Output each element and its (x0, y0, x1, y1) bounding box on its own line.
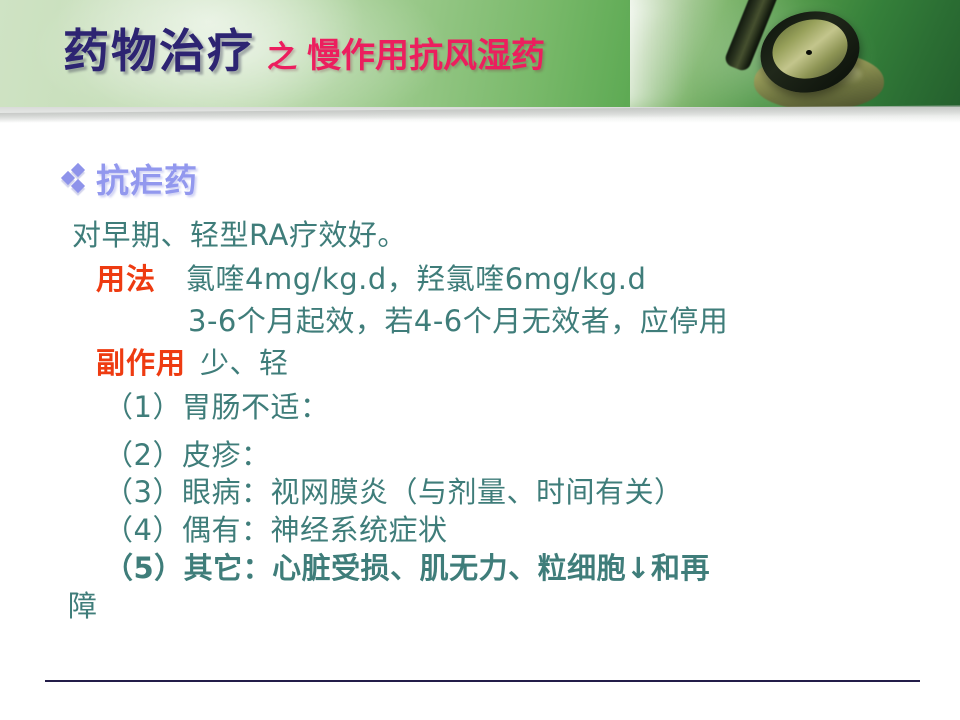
usage-duration-text: 3-6个月起效，若4-6个月无效者，应停用 (188, 304, 728, 338)
side-effect-item-4: （4）偶有：神经系统症状 (104, 507, 447, 549)
header-banner: 药物治疗之慢作用抗风湿药 (0, 0, 960, 107)
side-effects-line: 副作用少、轻 (96, 340, 289, 382)
footer-divider (45, 680, 920, 682)
slide: 药物治疗之慢作用抗风湿药 抗疟药 对早期、轻型RA疗效好。 用法氯喹4mg/kg… (0, 0, 960, 720)
usage-dosage-text: 氯喹4mg/kg.d，羟氯喹6mg/kg.d (186, 262, 646, 296)
title-connector-text: 之 (267, 40, 297, 75)
intro-line: 对早期、轻型RA疗效好。 (72, 212, 407, 254)
side-effect-item-5: （5）其它：心脏受损、肌无力、粒细胞↓和再 (104, 545, 710, 587)
section-heading: 抗疟药 (62, 154, 198, 202)
side-effects-summary: 少、轻 (200, 346, 289, 380)
title-subtitle-text: 慢作用抗风湿药 (307, 36, 545, 76)
intro-text: 对早期、轻型RA疗效好。 (72, 218, 407, 252)
side-effect-item-3: （3）眼病：视网膜炎（与剂量、时间有关） (104, 469, 683, 511)
title-main-text: 药物治疗 (63, 24, 255, 78)
stethoscope-center-dot (806, 50, 812, 55)
side-effect-item-2: （2）皮疹： (104, 432, 270, 474)
usage-label: 用法 (96, 262, 156, 296)
banner-shadow-band (0, 107, 960, 123)
slide-title: 药物治疗之慢作用抗风湿药 (63, 28, 545, 74)
usage-line-2: 3-6个月起效，若4-6个月无效者，应停用 (188, 298, 728, 340)
side-effect-item-1: （1）胃肠不适： (104, 384, 329, 426)
side-effect-item-5-wrap: 障 (68, 583, 98, 625)
diamond-bullet-icon (62, 163, 92, 193)
side-effects-label: 副作用 (96, 346, 186, 380)
stethoscope-image (630, 0, 960, 107)
section-heading-label: 抗疟药 (96, 154, 198, 202)
usage-line-1: 用法氯喹4mg/kg.d，羟氯喹6mg/kg.d (96, 256, 646, 298)
slide-body: 抗疟药 对早期、轻型RA疗效好。 用法氯喹4mg/kg.d，羟氯喹6mg/kg.… (0, 130, 960, 650)
